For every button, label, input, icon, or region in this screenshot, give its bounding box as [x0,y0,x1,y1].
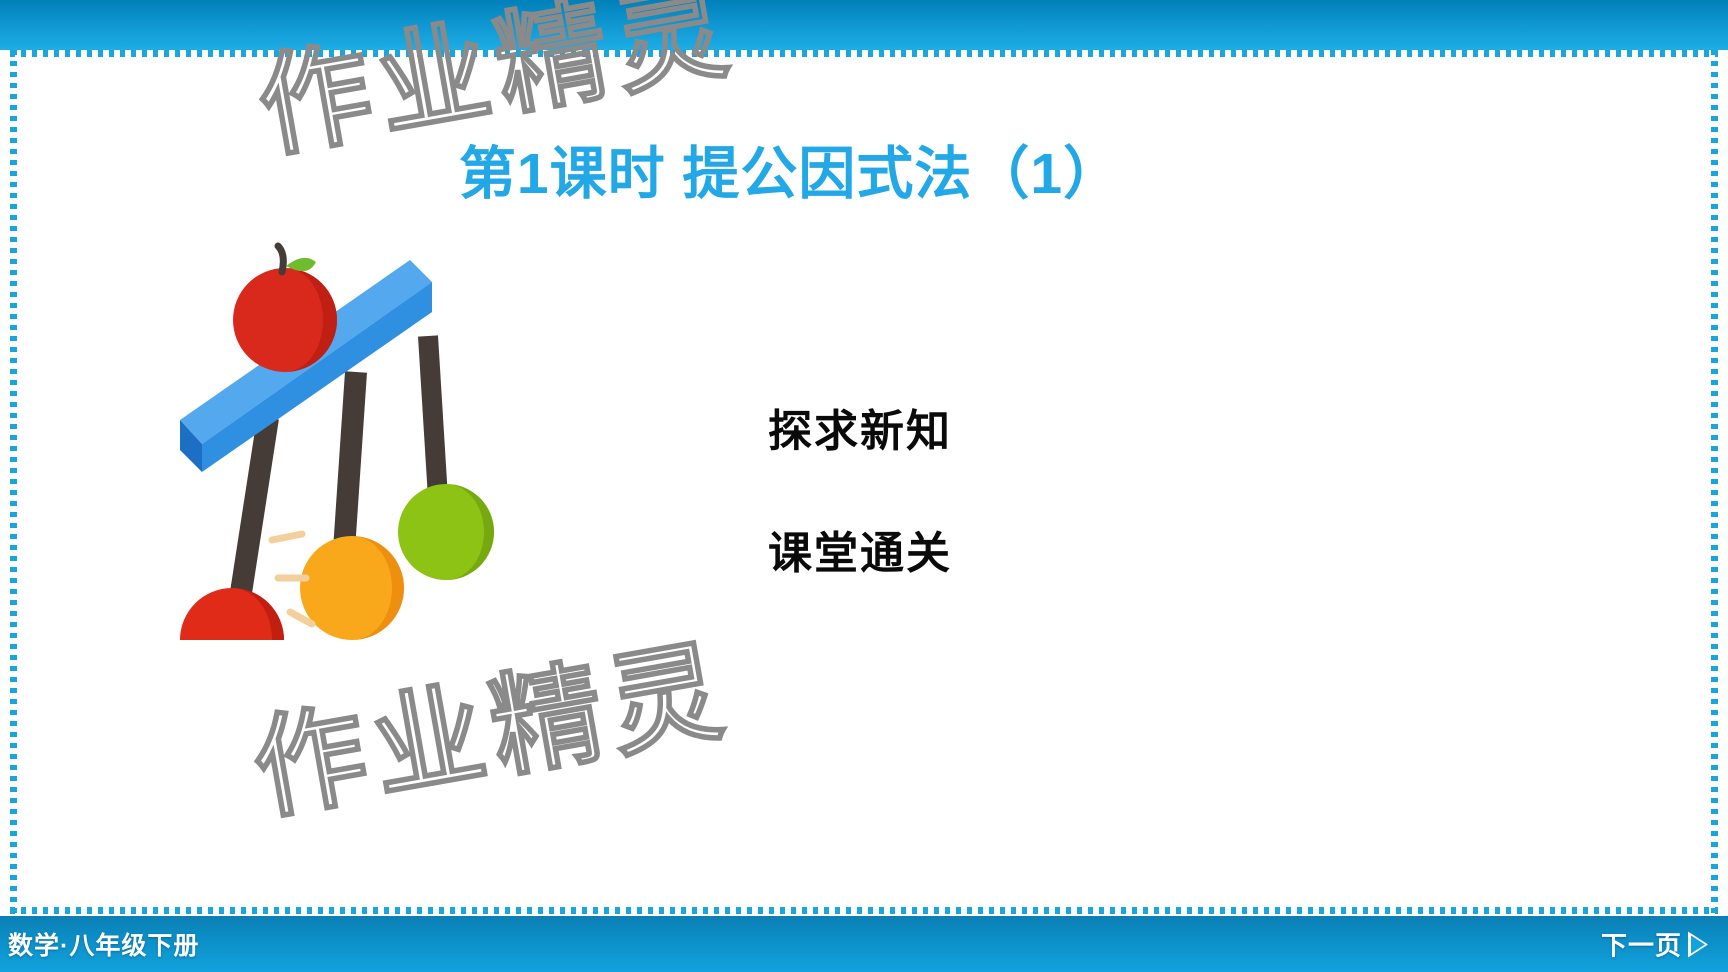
green-ball [398,484,494,580]
frame-top-dotted-line [10,50,1718,57]
newton-cradle-illustration [160,240,520,640]
section-menu: 探求新知 课堂通关 [768,395,952,639]
red-ball [180,588,284,640]
next-page-button[interactable]: 下一页 [1601,926,1708,963]
menu-item-classroom[interactable]: 课堂通关 [768,517,952,581]
frame-bottom-dotted-line [10,907,1718,914]
top-bar [0,0,1728,50]
orange-ball [300,536,404,640]
next-page-label: 下一页 [1601,926,1682,963]
presentation-slide: 第1课时 提公因式法（1） 探求新知 课堂通关 作业精灵 作业精灵 数学·八年级… [0,0,1728,972]
menu-item-explore[interactable]: 探求新知 [768,395,952,459]
bottom-bar: 数学·八年级下册 下一页 [0,916,1728,972]
page-title: 第1课时 提公因式法（1） [0,128,1580,210]
footer-book-title: 数学·八年级下册 [8,926,199,962]
frame-right-dotted-line [1711,50,1718,914]
apple [233,246,337,372]
play-triangle-icon [1688,931,1708,957]
